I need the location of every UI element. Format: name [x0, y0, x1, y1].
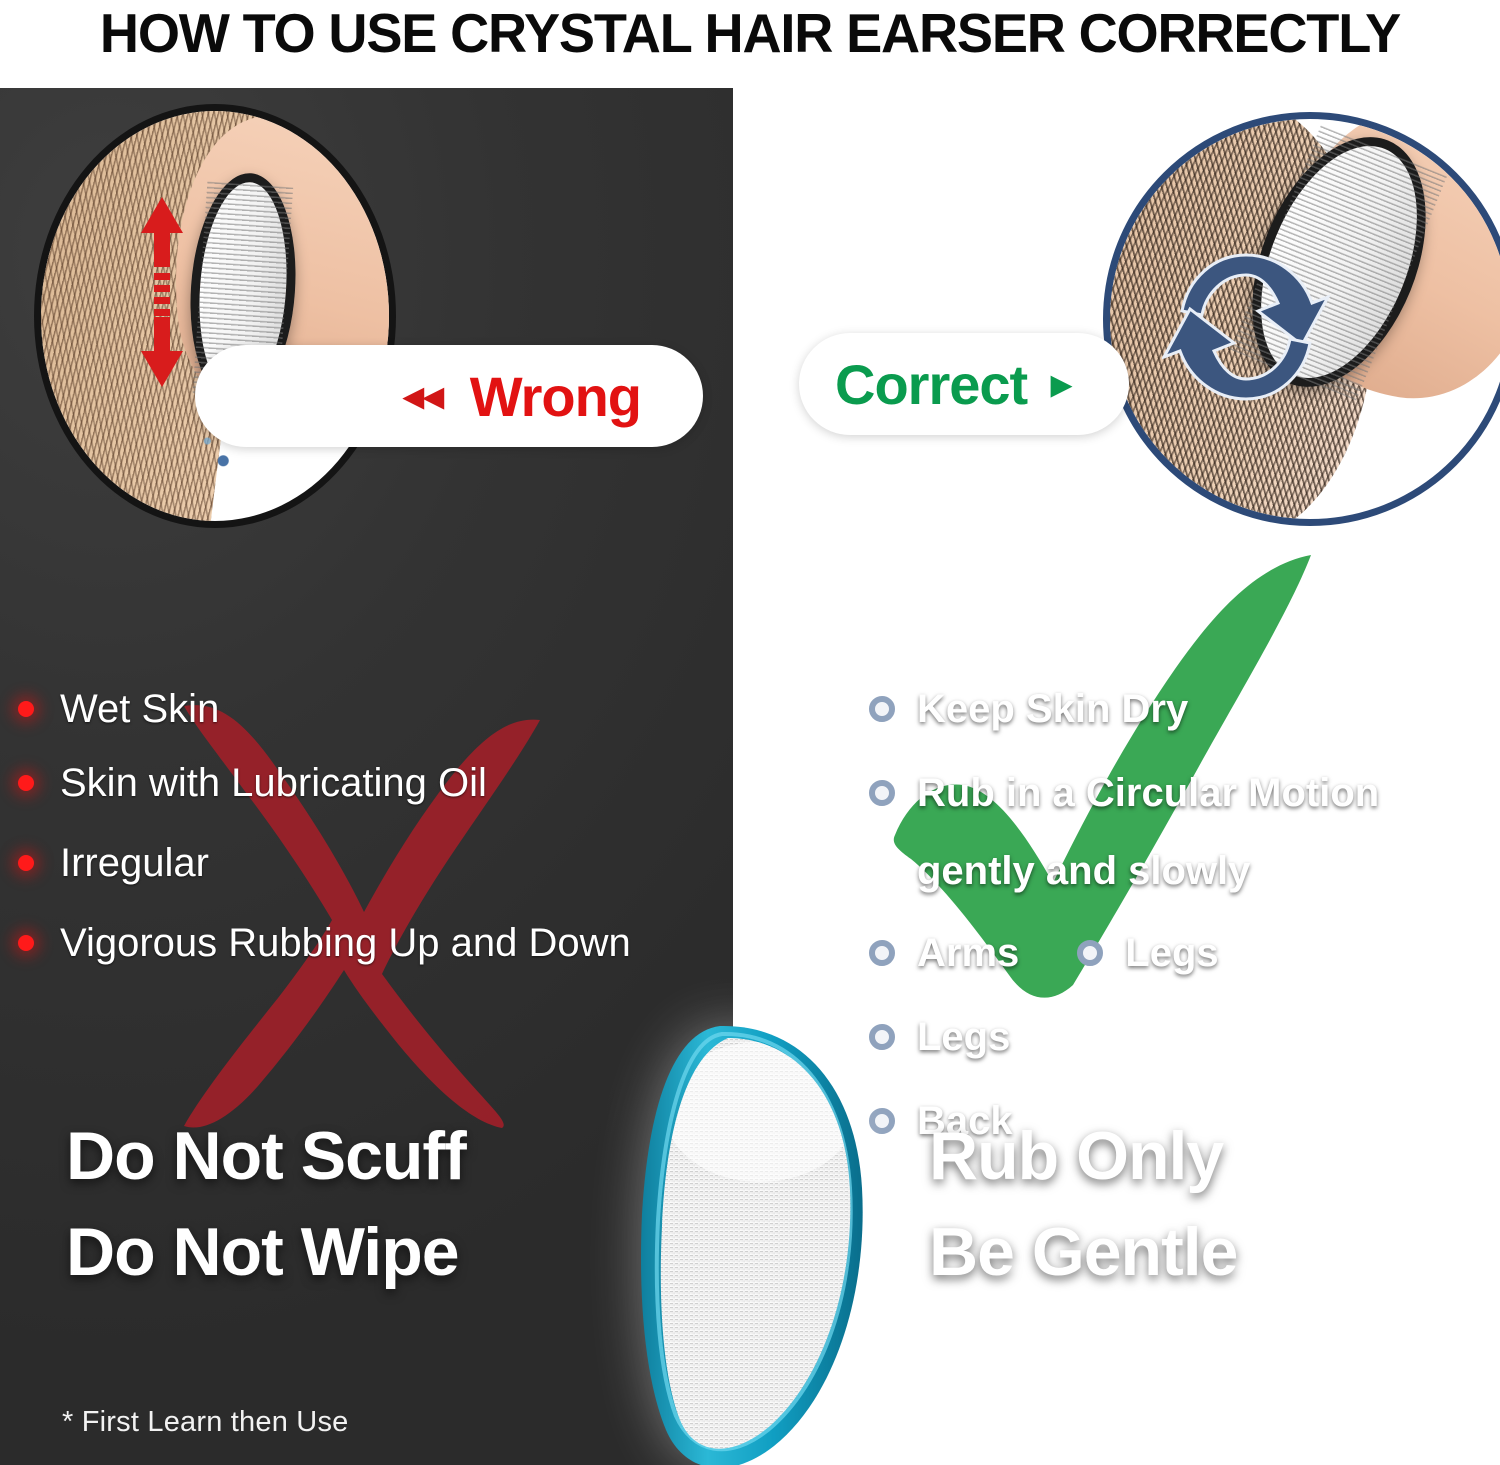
- list-item-label: Keep Skin Dry: [917, 686, 1188, 732]
- list-item-label: Vigorous Rubbing Up and Down: [60, 920, 631, 966]
- wrong-photo-circle: [34, 104, 396, 528]
- wrong-label: Wrong: [470, 364, 641, 429]
- list-item-label: Legs: [917, 1014, 1010, 1060]
- chevron-left-icon: ◂◂: [404, 376, 444, 416]
- list-item-label: Rub in a Circular Motion: [917, 770, 1379, 816]
- list-item-label: Skin with Lubricating Oil: [60, 760, 487, 806]
- wrong-slogan-line1: Do Not Scuff: [66, 1108, 466, 1204]
- wrong-slogan: Do Not Scuff Do Not Wipe: [66, 1108, 466, 1300]
- list-item: Legs: [869, 1014, 1479, 1060]
- correct-slogan-line1: Rub Only: [929, 1108, 1237, 1204]
- infographic-page: HOW TO USE CRYSTAL HAIR EARSER CORRECTLY: [0, 0, 1500, 1465]
- crystal-hair-eraser-product: [610, 1022, 870, 1465]
- list-item: Vigorous Rubbing Up and Down: [18, 920, 718, 966]
- red-bullet-icon: [18, 935, 34, 951]
- red-bullet-icon: [18, 775, 34, 791]
- wrong-slogan-line2: Do Not Wipe: [66, 1204, 466, 1300]
- wrong-list: Wet Skin Skin with Lubricating Oil Irreg…: [18, 686, 718, 994]
- list-item-label: Irregular: [60, 840, 209, 886]
- correct-slogan: Rub Only Be Gentle: [929, 1108, 1237, 1300]
- ring-bullet-icon: [869, 780, 895, 806]
- up-down-double-arrow-icon: [141, 197, 183, 387]
- circular-rotation-arrows-icon: [1162, 241, 1330, 413]
- list-item: Keep Skin Dry: [869, 686, 1479, 732]
- correct-photo-circle: [1103, 112, 1500, 526]
- red-bullet-icon: [18, 855, 34, 871]
- wrong-label-pill: ◂◂ Wrong: [195, 345, 703, 447]
- correct-label-pill: Correct ▸: [799, 333, 1129, 435]
- list-item: Arms Legs: [869, 930, 1479, 976]
- red-bullet-icon: [18, 701, 34, 717]
- ring-bullet-icon: [869, 1108, 895, 1134]
- ring-bullet-icon: [869, 1024, 895, 1050]
- footnote: * First Learn then Use: [62, 1406, 348, 1439]
- ring-bullet-icon: [1077, 940, 1103, 966]
- list-item-label: Wet Skin: [60, 686, 219, 732]
- correct-slogan-line2: Be Gentle: [929, 1204, 1237, 1300]
- list-item: Irregular: [18, 840, 718, 886]
- list-item: Skin with Lubricating Oil: [18, 760, 718, 806]
- ring-bullet-icon: [869, 696, 895, 722]
- list-item-label-continuation: gently and slowly: [917, 848, 1479, 894]
- correct-list: Keep Skin Dry Rub in a Circular Motion g…: [869, 686, 1479, 1172]
- list-item-label: Arms: [917, 930, 1019, 976]
- list-item-label-secondary: Legs: [1125, 930, 1218, 976]
- ring-bullet-icon: [869, 940, 895, 966]
- list-item: Rub in a Circular Motion gently and slow…: [869, 770, 1479, 894]
- correct-label: Correct: [835, 352, 1027, 417]
- chevron-right-icon: ▸: [1051, 364, 1071, 404]
- list-item: Wet Skin: [18, 686, 718, 732]
- page-title: HOW TO USE CRYSTAL HAIR EARSER CORRECTLY: [11, 2, 1489, 64]
